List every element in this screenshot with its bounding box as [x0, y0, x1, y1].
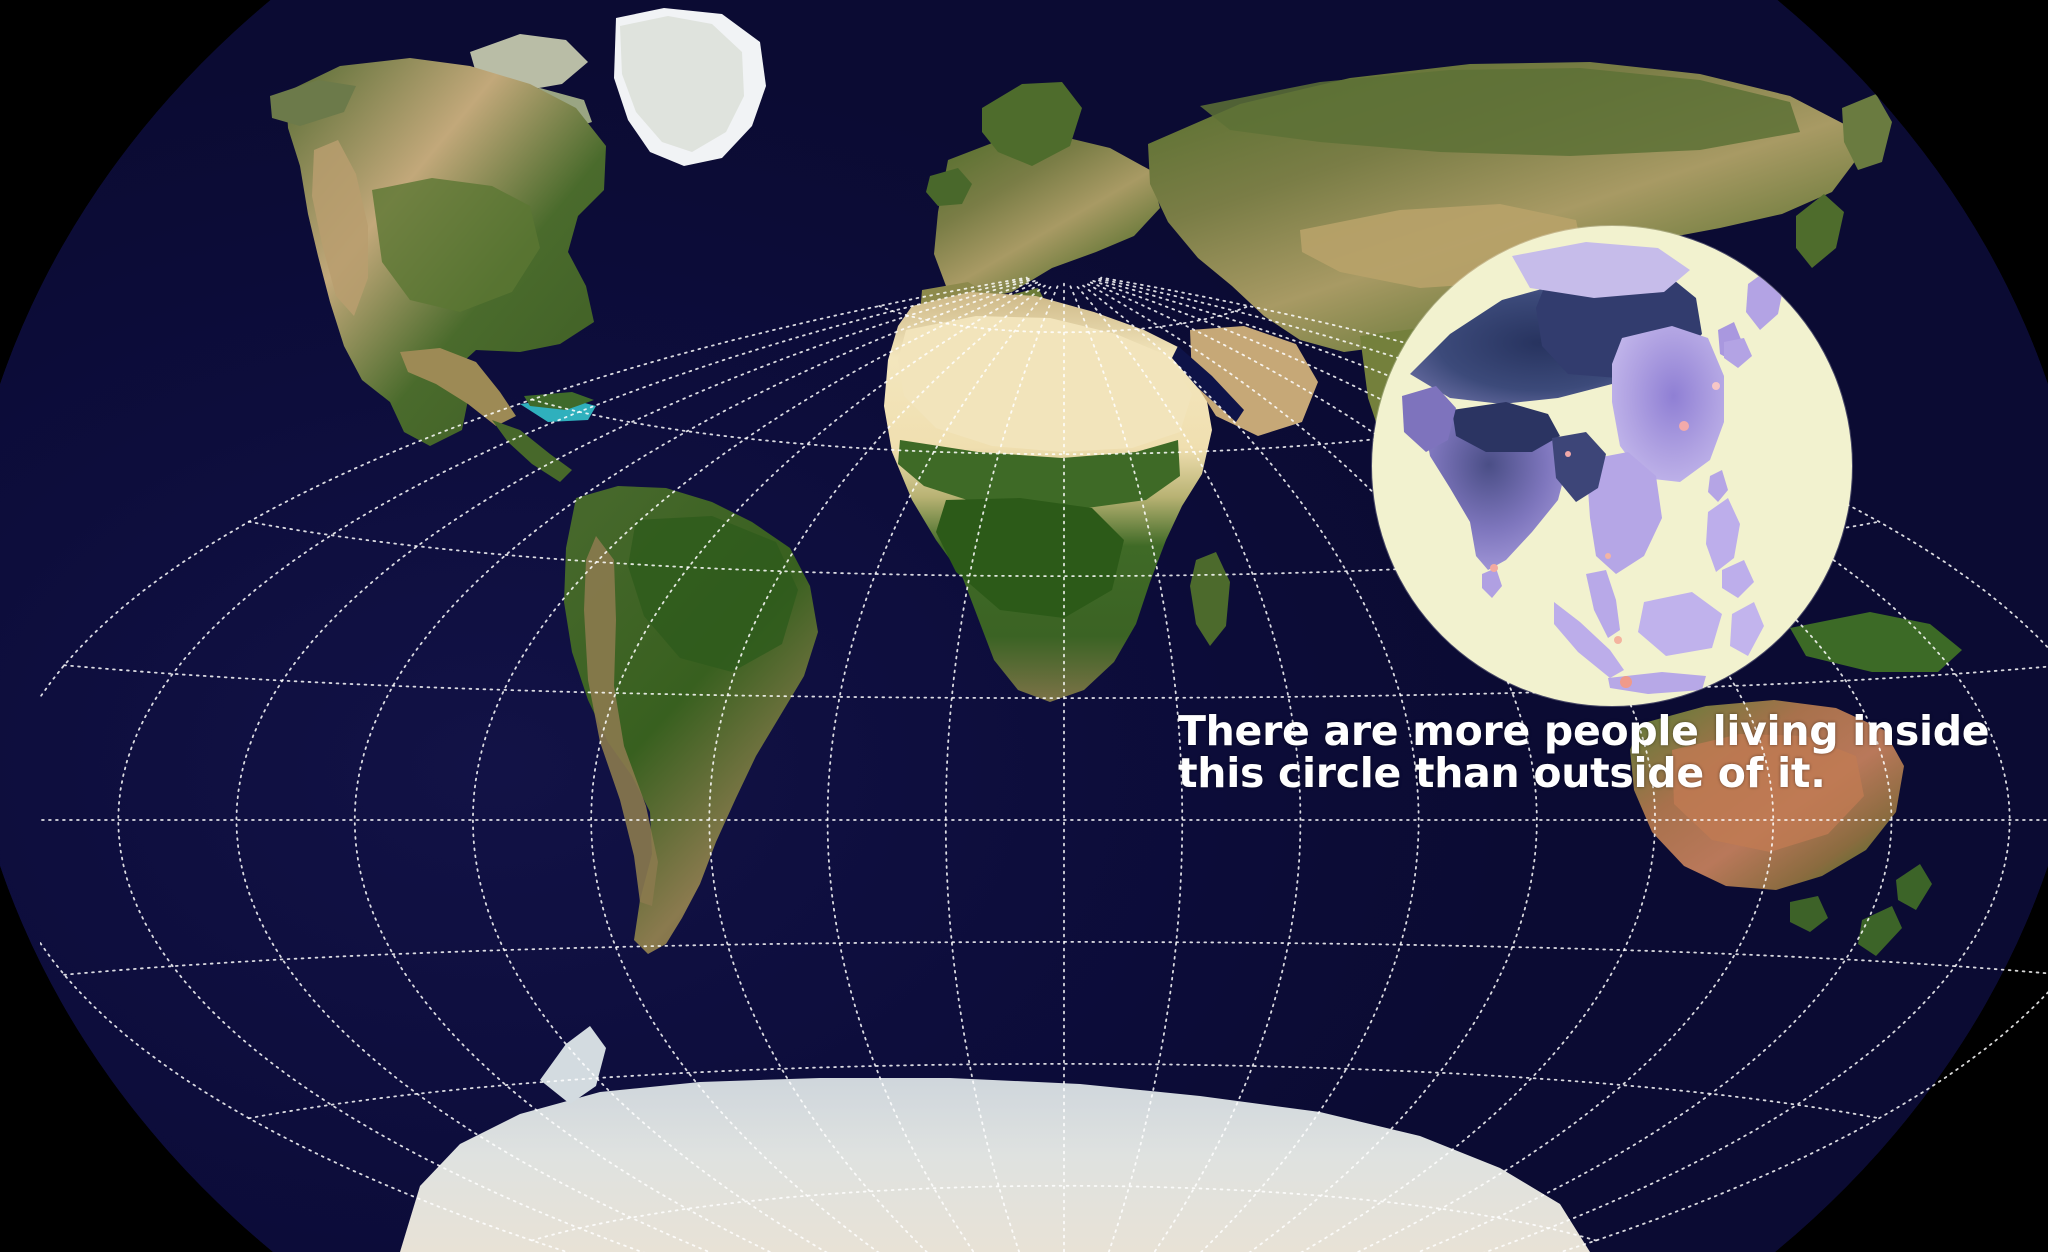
population-region-sulawesi — [1730, 602, 1764, 656]
meridian-line — [355, 281, 1036, 1252]
meridian-line — [946, 283, 1059, 1252]
meridian-line — [709, 283, 1048, 1252]
meridian-line — [828, 283, 1054, 1252]
population-region-borneo — [1638, 592, 1722, 656]
population-region-japan-south — [1724, 338, 1752, 368]
meridian-line — [236, 280, 1032, 1252]
population-hotspot-dhaka — [1565, 451, 1571, 457]
meridian-line — [118, 279, 1029, 1252]
map-canvas: There are more people living inside this… — [0, 0, 2048, 1252]
population-hotspot-bangkok — [1605, 553, 1611, 559]
population-region-mongolia — [1512, 242, 1690, 298]
caption-line-1: There are more people living inside — [1178, 710, 1989, 752]
population-region-japan — [1746, 268, 1784, 330]
population-hotspot-shanghai — [1712, 382, 1720, 390]
meridian-line — [591, 282, 1044, 1252]
population-region-philippines — [1706, 498, 1740, 572]
population-hotspot-hongkong — [1679, 421, 1689, 431]
parallel-line — [64, 942, 2048, 975]
meridian-line — [1069, 283, 1182, 1252]
meridian-line — [40, 278, 1027, 1252]
population-hotspot-singapore — [1614, 636, 1622, 644]
population-region-sri-lanka — [1482, 568, 1502, 598]
population-density-overlay — [1372, 226, 1852, 706]
valeriepieris-circle — [1372, 226, 1852, 706]
meridian-line — [473, 281, 1040, 1252]
population-region-malaysia — [1586, 570, 1620, 638]
caption-text: There are more people living inside this… — [1178, 710, 1989, 794]
population-region-taiwan — [1708, 470, 1728, 502]
population-hotspot-jakarta — [1620, 676, 1632, 688]
population-hotspot-chennai — [1490, 564, 1498, 572]
caption-line-2: this circle than outside of it. — [1178, 752, 1989, 794]
population-region-philippines-south — [1722, 560, 1754, 598]
